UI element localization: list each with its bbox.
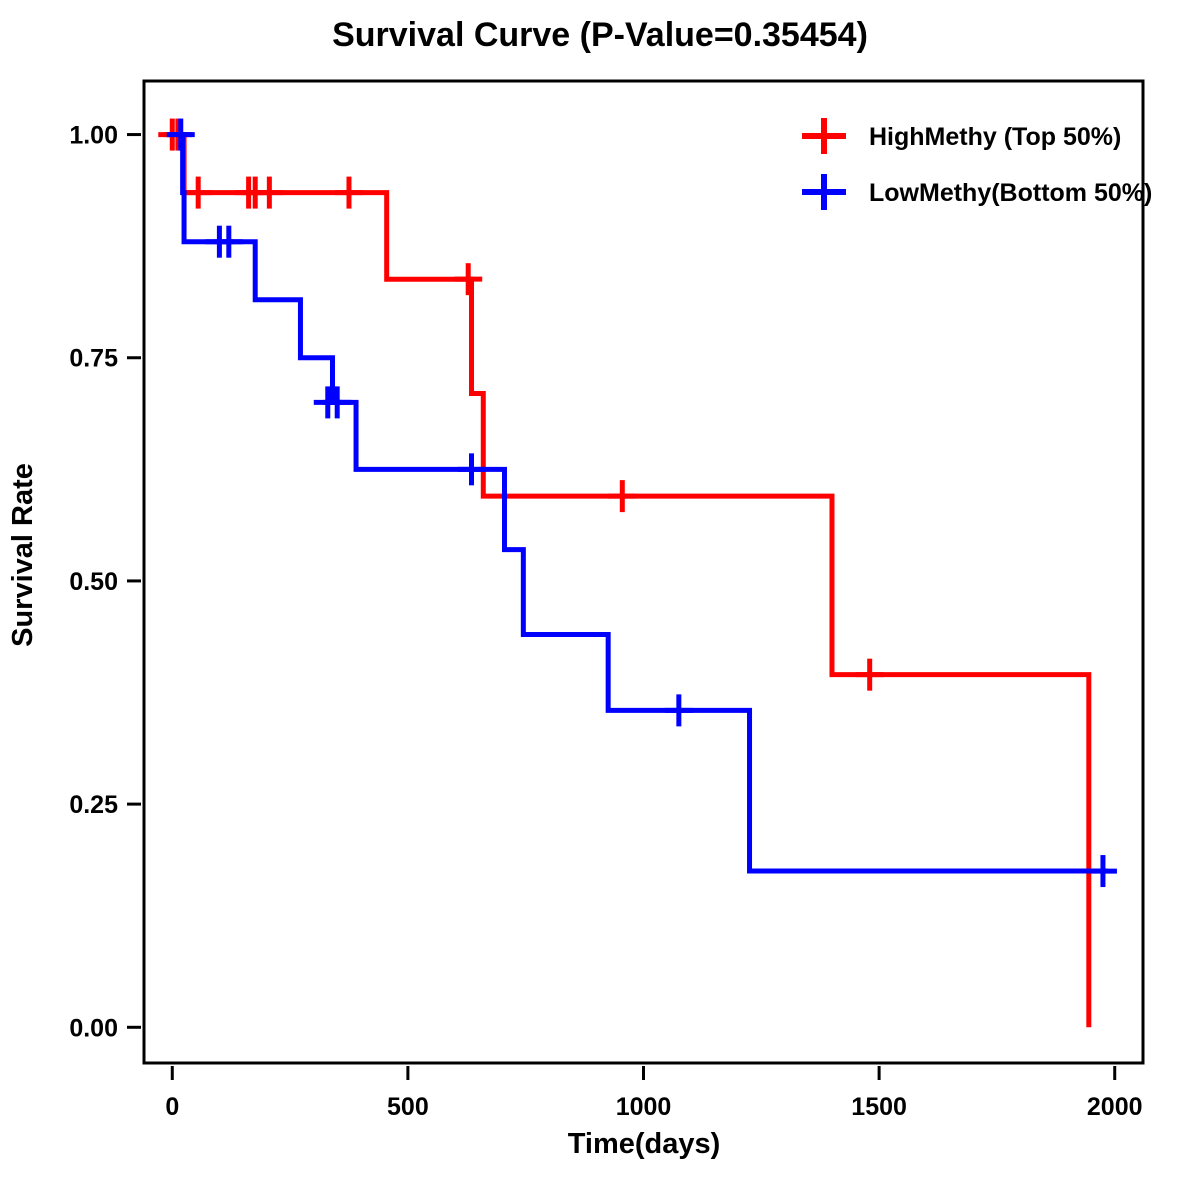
censor-marker [454,263,482,295]
legend-item-1[interactable]: HighMethy (Top 50%) [802,118,1121,154]
y-tick-label: 0.00 [69,1014,118,1042]
axis-frame [144,81,1143,1063]
series-layer [158,119,1117,1028]
x-tick-label: 1500 [851,1093,907,1121]
legend-label: LowMethy(Bottom 50%) [869,179,1152,207]
censor-marker [184,177,212,209]
chart-legend: HighMethy (Top 50%)LowMethy(Bottom 50%) [802,118,1152,210]
x-tick-label: 0 [165,1093,179,1121]
y-tick-label: 0.75 [69,345,118,373]
y-tick-label: 1.00 [69,122,118,150]
censor-marker [856,659,884,691]
censor-marker [255,177,283,209]
step-line [172,135,1089,1028]
plot-border [144,81,1143,1063]
censor-marker [608,480,636,512]
y-tick-label: 0.50 [69,568,118,596]
survival-curve-figure: Survival Curve (P-Value=0.35454) Surviva… [0,0,1200,1200]
step-line [172,135,1107,872]
censor-marker [335,177,363,209]
x-axis-ticks: 0500100015002000 [165,1066,1142,1121]
censor-marker [1089,855,1117,887]
x-tick-label: 500 [387,1093,429,1121]
x-tick-label: 2000 [1087,1093,1143,1121]
y-tick-label: 0.25 [69,791,118,819]
x-tick-label: 1000 [616,1093,672,1121]
series-highmethy-top-50- [158,119,1089,1028]
legend-item-2[interactable]: LowMethy(Bottom 50%) [802,174,1152,210]
series-lowmethy-bottom-50- [167,119,1117,888]
y-axis-ticks: 0.000.250.500.751.00 [69,122,141,1043]
plot-area: 0500100015002000 0.000.250.500.751.00 Hi… [0,0,1200,1200]
censor-marker [665,694,693,726]
legend-label: HighMethy (Top 50%) [869,123,1121,151]
